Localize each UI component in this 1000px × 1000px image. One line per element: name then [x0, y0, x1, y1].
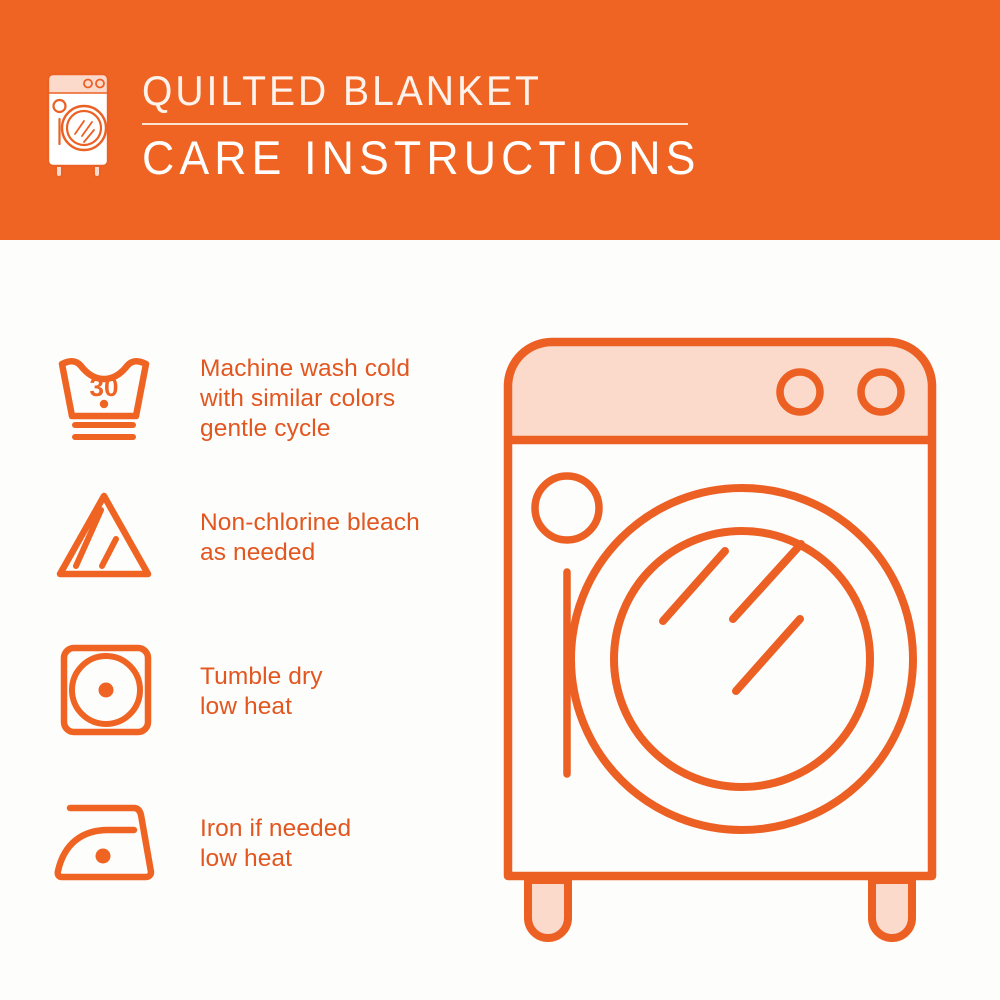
- iron-low-heat-icon: [50, 792, 162, 892]
- care-item-label: Tumble dry low heat: [162, 640, 323, 722]
- wash-temperature-label: 30: [90, 372, 119, 402]
- detergent-dial: [535, 476, 599, 540]
- care-item-label: Machine wash cold with similar colors ge…: [162, 346, 410, 444]
- front-load-washing-machine-illustration: [488, 326, 968, 946]
- bleach-triangle-non-chlorine-icon: [50, 486, 162, 586]
- care-item-iron: Iron if needed low heat: [50, 792, 470, 892]
- care-item-bleach: Non-chlorine bleach as needed: [50, 486, 470, 586]
- tumble-dry-low-heat-icon: [50, 640, 162, 740]
- wash-tub-30-gentle-icon: 30: [50, 346, 162, 446]
- door-inner-ring: [614, 531, 870, 787]
- title-divider: [142, 123, 688, 125]
- care-item-label: Iron if needed low heat: [162, 792, 351, 874]
- washing-machine-icon: [44, 66, 116, 178]
- header-banner: QUILTED BLANKET CARE INSTRUCTIONS: [0, 0, 1000, 240]
- care-item-tumble-dry: Tumble dry low heat: [50, 640, 470, 740]
- care-item-machine-wash: 30 Machine wash cold with similar colors…: [50, 346, 470, 446]
- leg-left: [528, 880, 568, 938]
- door-shine-lines: [663, 544, 801, 691]
- care-instructions-page: QUILTED BLANKET CARE INSTRUCTIONS 30: [0, 0, 1000, 1000]
- care-item-label: Non-chlorine bleach as needed: [162, 486, 420, 568]
- leg-right: [872, 880, 912, 938]
- control-panel: [508, 342, 932, 440]
- door-outer-ring: [571, 488, 913, 830]
- header-title-block: QUILTED BLANKET CARE INSTRUCTIONS: [142, 68, 742, 183]
- page-title-primary: QUILTED BLANKET: [142, 68, 700, 114]
- care-instructions-list: 30 Machine wash cold with similar colors…: [0, 240, 480, 1000]
- page-title-secondary: CARE INSTRUCTIONS: [142, 133, 712, 183]
